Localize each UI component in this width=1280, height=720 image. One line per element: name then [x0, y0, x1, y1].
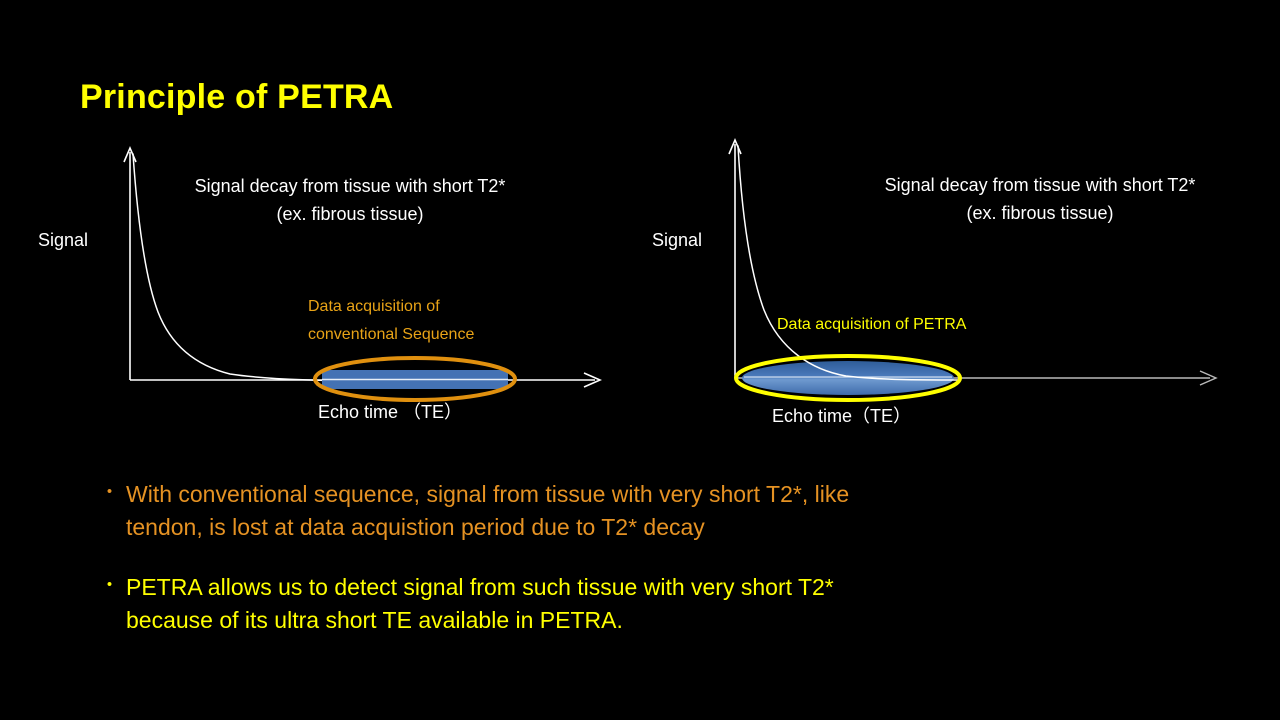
chart-petra-sequence: Signal Echo time（TE） Signal decay from t… [640, 130, 1270, 430]
bullet-list: ・ With conventional sequence, signal fro… [100, 478, 1110, 637]
bullet-item-conventional: ・ With conventional sequence, signal fro… [100, 478, 1110, 543]
chart-heading-line-1: Signal decay from tissue with short T2* [195, 176, 506, 196]
bullet-line-1: With conventional sequence, signal from … [126, 481, 849, 507]
bullet-item-petra: ・ PETRA allows us to detect signal from … [100, 571, 1110, 636]
chart-conventional-sequence: Signal Echo time （TE） Signal decay from … [30, 130, 650, 430]
acquisition-bar [742, 361, 954, 395]
bullet-line-2: because of its ultra short TE available … [126, 604, 1110, 637]
annotation-conventional-acquisition: Data acquisition of conventional Sequenc… [308, 293, 474, 349]
bullet-line-2: tendon, is lost at data acquistion perio… [126, 511, 1110, 544]
x-axis-label-echo-time: Echo time （TE） [318, 398, 462, 424]
annotation-line-1: Data acquisition of PETRA [777, 316, 966, 333]
slide-canvas: Principle of PETRA Signal Echo time （TE）… [0, 0, 1280, 720]
chart-heading-line-1: Signal decay from tissue with short T2* [885, 175, 1196, 195]
y-axis-label-signal: Signal [38, 230, 88, 251]
bullet-line-1: PETRA allows us to detect signal from su… [126, 574, 834, 600]
annotation-petra-acquisition: Data acquisition of PETRA [777, 311, 966, 339]
bullet-marker-icon: ・ [100, 478, 119, 507]
y-axis-label-signal: Signal [652, 230, 702, 251]
annotation-line-2: conventional Sequence [308, 321, 474, 349]
chart-heading-line-2: (ex. fibrous tissue) [140, 201, 560, 229]
chart-heading-line-2: (ex. fibrous tissue) [830, 200, 1250, 228]
chart-heading-petra: Signal decay from tissue with short T2* … [830, 172, 1250, 228]
bullet-marker-icon: ・ [100, 571, 119, 600]
annotation-line-1: Data acquisition of [308, 298, 440, 315]
x-axis-label-echo-time: Echo time（TE） [772, 402, 911, 428]
page-title: Principle of PETRA [80, 78, 393, 117]
chart-heading-conventional: Signal decay from tissue with short T2* … [140, 173, 560, 229]
